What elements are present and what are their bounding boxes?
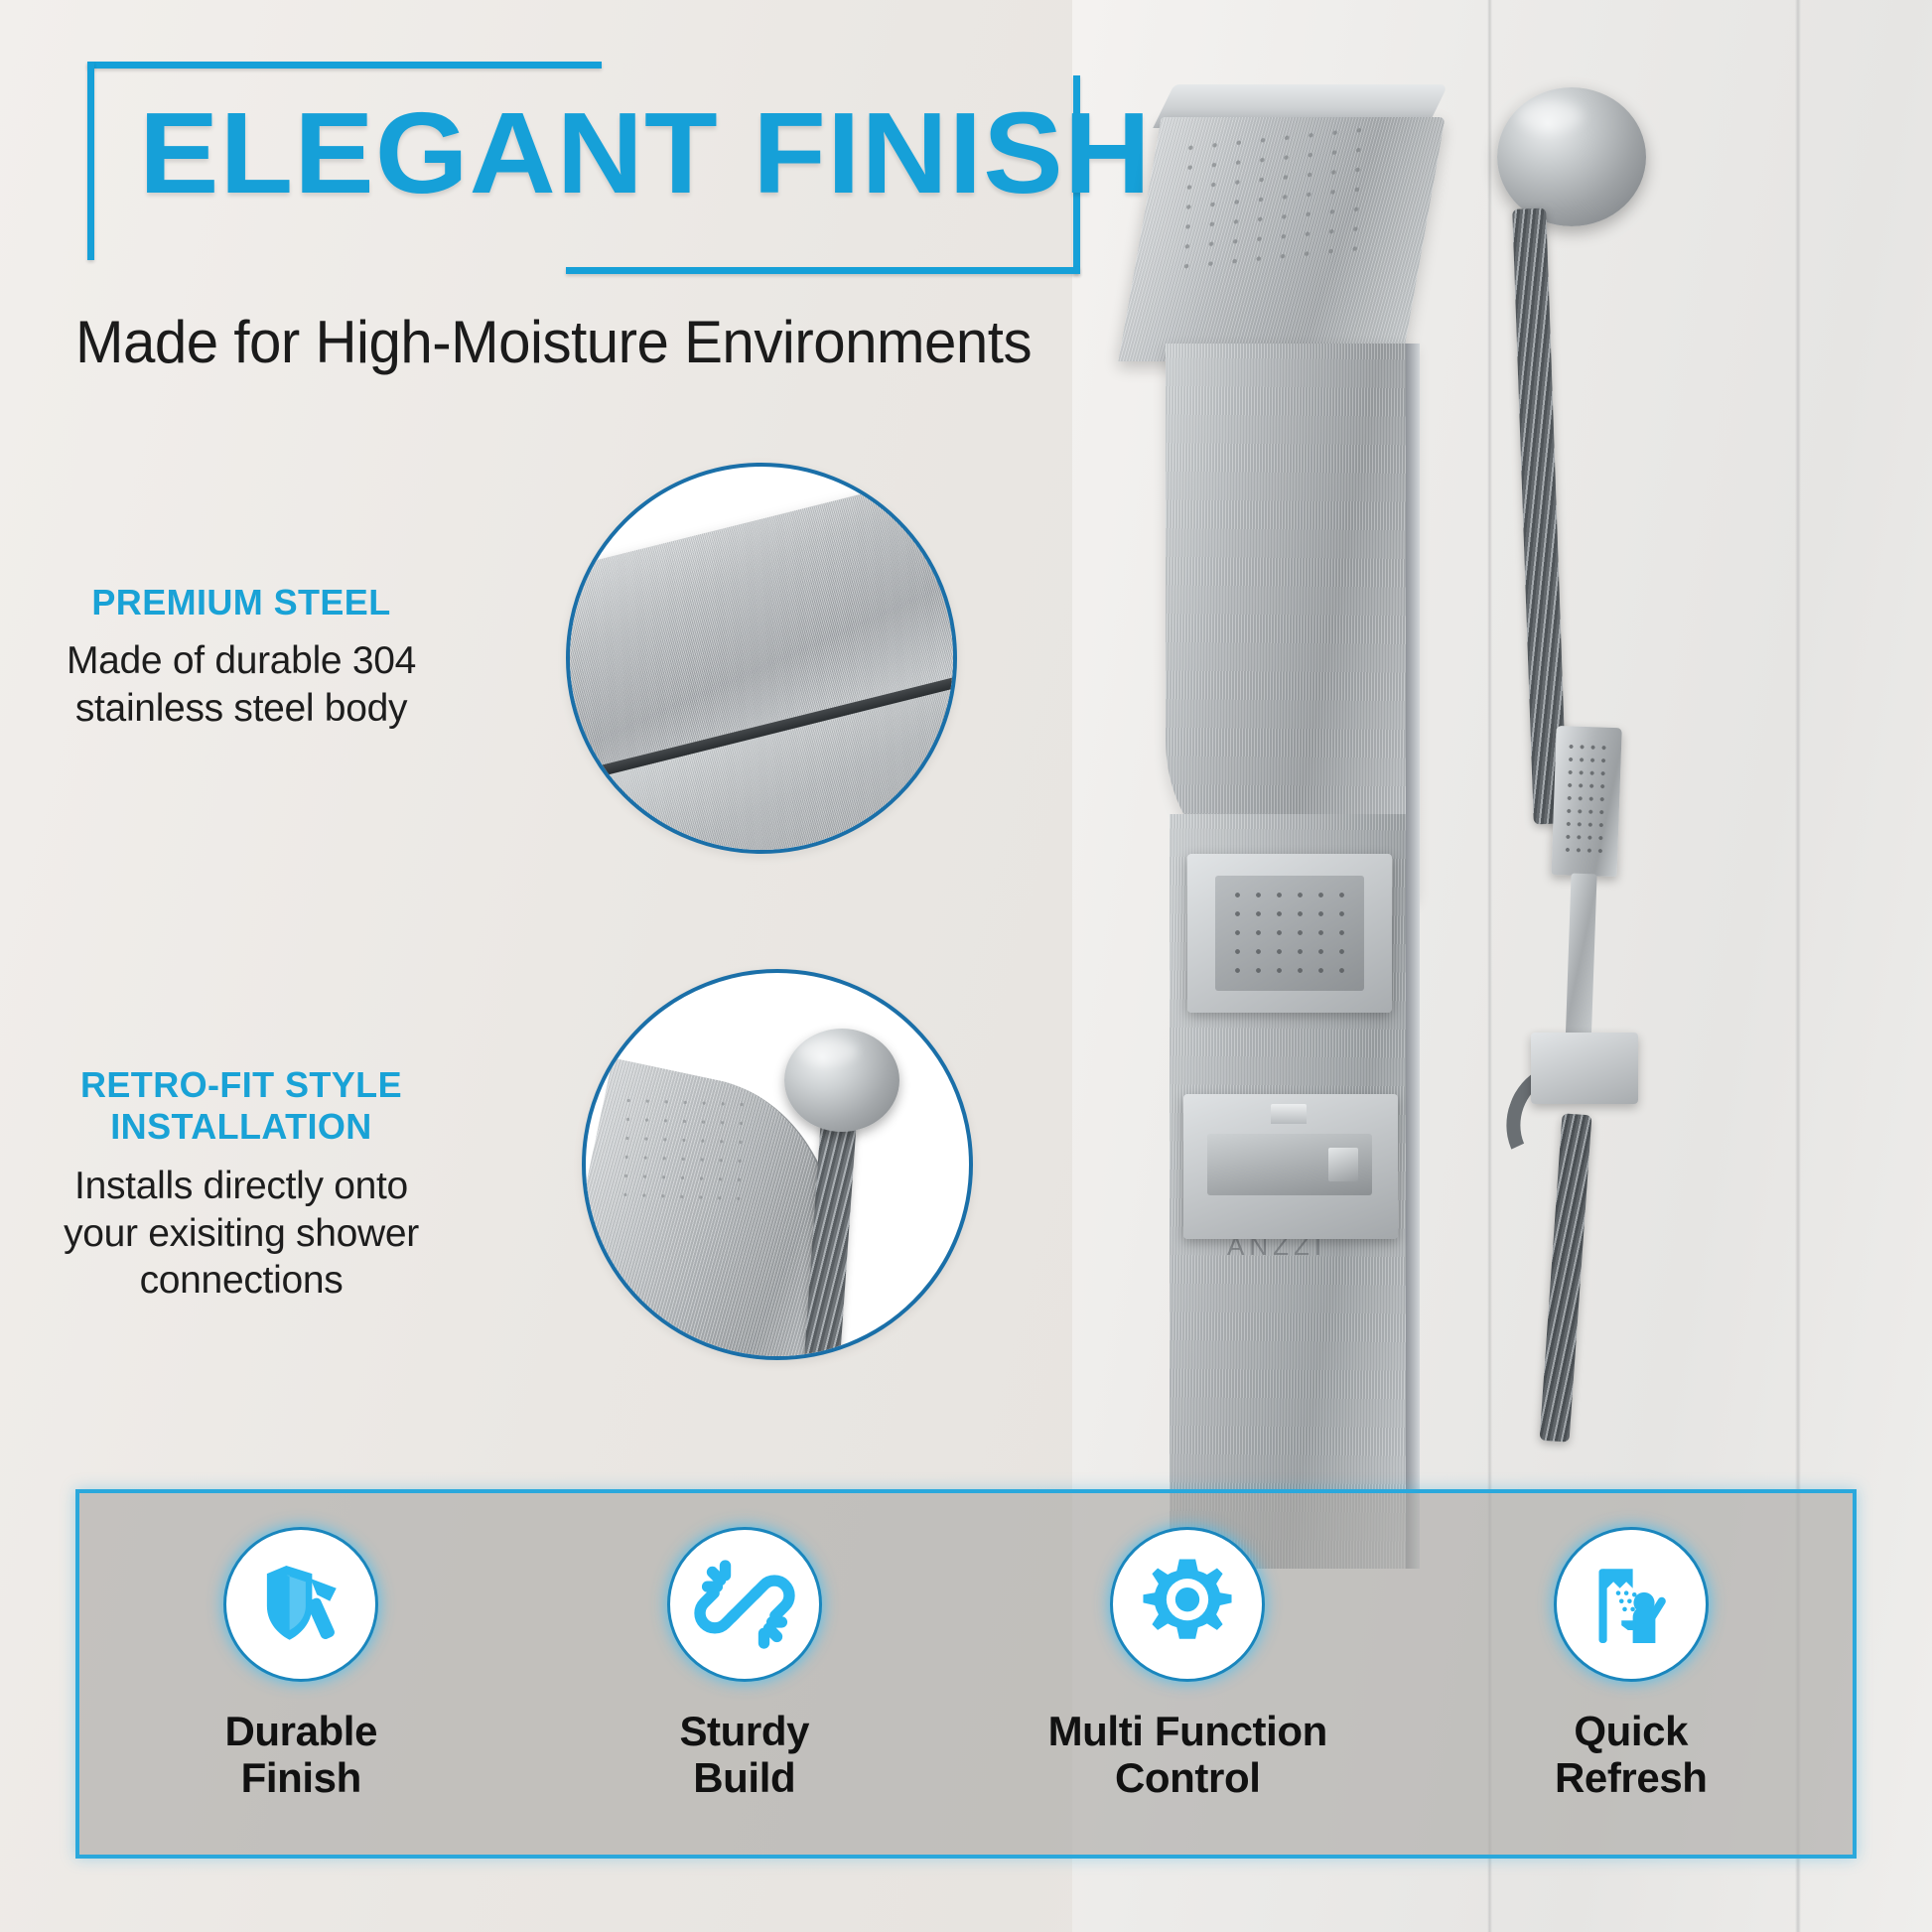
benefit-label-line: Finish (241, 1754, 361, 1801)
feature-body-line: Installs directly onto (74, 1165, 408, 1207)
panel-right-edge (1406, 344, 1420, 1569)
wand-handle (1566, 874, 1597, 1037)
feature-heading: PREMIUM STEEL (28, 582, 455, 623)
feature-heading-line: RETRO-FIT STYLE (80, 1064, 402, 1105)
benefit-label: Sturdy Build (679, 1708, 809, 1802)
feature-body-line: stainless steel body (75, 687, 407, 730)
benefit-label-line: Build (693, 1754, 795, 1801)
benefit-icon-badge (1110, 1527, 1265, 1682)
benefit-multi-function-control: Multi Function Control (966, 1493, 1410, 1802)
infographic-stage: ELEGANT FINISH Made for High-Moisture En… (0, 0, 1932, 1932)
benefit-label: Multi Function Control (1048, 1708, 1327, 1802)
frame-line-top (87, 62, 602, 69)
benefit-icon-badge (667, 1527, 822, 1682)
feature-heading-line: INSTALLATION (110, 1106, 371, 1147)
chain-link-icon (693, 1553, 796, 1656)
wall-mount-knob (784, 1029, 899, 1132)
product-shower-panel: ANZZI (1122, 60, 1817, 1608)
feature-heading: RETRO-FIT STYLE INSTALLATION (28, 1064, 455, 1149)
spray-holes (616, 1091, 759, 1205)
body-jet-inner (1215, 876, 1364, 991)
benefits-bar: Durable Finish (75, 1489, 1857, 1859)
frame-line-bottom (566, 267, 1080, 274)
feature-body-line: your exisiting shower (64, 1212, 419, 1255)
benefit-sturdy-build: Sturdy Build (523, 1493, 967, 1802)
benefit-label: Durable Finish (224, 1708, 377, 1802)
page-subtitle: Made for High-Moisture Environments (75, 308, 1032, 376)
benefit-label-line: Refresh (1555, 1754, 1708, 1801)
shower-person-icon (1580, 1553, 1683, 1656)
feature-premium-steel: PREMIUM STEEL Made of durable 304 stainl… (28, 582, 455, 733)
title-frame: ELEGANT FINISH (87, 62, 1080, 270)
feature-body: Made of durable 304 stainless steel body (28, 637, 455, 732)
benefit-label-line: Multi Function (1048, 1708, 1327, 1754)
page-title: ELEGANT FINISH (139, 95, 1152, 210)
mixer-lever[interactable] (1207, 1134, 1372, 1195)
feature-body: Installs directly onto your exisiting sh… (28, 1163, 455, 1305)
shower-head-nozzles (1174, 120, 1366, 278)
benefit-label-line: Quick (1574, 1708, 1688, 1754)
diverter-tab[interactable] (1271, 1104, 1307, 1124)
gear-icon (1136, 1553, 1239, 1656)
body-jet-nozzles (1227, 886, 1352, 981)
benefit-icon-badge (1554, 1527, 1709, 1682)
benefit-quick-refresh: Quick Refresh (1410, 1493, 1854, 1802)
frame-line-left (87, 62, 94, 260)
handheld-wand (1545, 726, 1621, 1055)
benefit-label: Quick Refresh (1555, 1708, 1708, 1802)
feature-body-line: Made of durable 304 (67, 639, 416, 682)
benefit-label-line: Durable (224, 1708, 377, 1754)
benefit-label-line: Control (1115, 1754, 1261, 1801)
wand-nozzles (1562, 740, 1609, 858)
detail-photo-premium-steel (566, 463, 957, 854)
body-jet-frame (1187, 854, 1392, 1013)
mixer-control-block[interactable] (1183, 1094, 1398, 1239)
detail-photo-retro-fit (582, 969, 973, 1360)
benefit-label-line: Sturdy (679, 1708, 809, 1754)
shield-hammer-icon (249, 1553, 352, 1656)
benefit-icon-badge (223, 1527, 378, 1682)
benefit-durable-finish: Durable Finish (79, 1493, 523, 1802)
benefits-list: Durable Finish (79, 1493, 1853, 1855)
feature-body-line: connections (140, 1259, 344, 1302)
wand-head (1552, 726, 1622, 877)
wall-mount-bracket (1497, 87, 1646, 226)
feature-retro-fit-installation: RETRO-FIT STYLE INSTALLATION Installs di… (28, 1064, 455, 1305)
wand-holder-bracket (1531, 1033, 1638, 1104)
